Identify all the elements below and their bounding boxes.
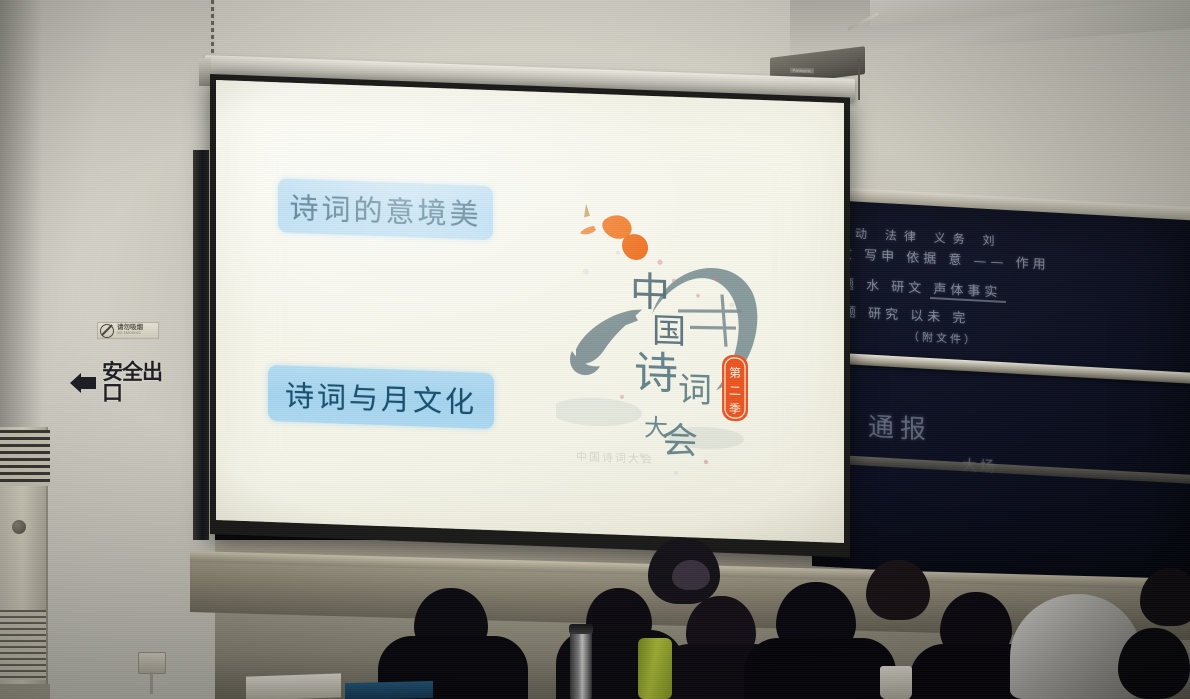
slide-bullet-2-label: 诗词与月文化	[285, 373, 477, 422]
logo-char-ci: 词	[678, 370, 712, 411]
logo-char-guo: 国	[652, 311, 686, 352]
student-head	[866, 560, 930, 620]
screen-brand-plate: Panasonic	[790, 68, 814, 74]
svg-text:第: 第	[729, 366, 741, 380]
emergency-exit-sign: 安全出口	[68, 366, 176, 400]
paper-sheet	[246, 673, 341, 699]
no-smoking-sign: 请勿吸烟 NO SMOKING	[97, 322, 159, 339]
chalk-headline: 通报	[868, 406, 932, 446]
notebook	[345, 681, 433, 699]
chinese-poetry-conference-logo: 中 国 诗 词 大 会 第	[556, 180, 776, 488]
slide-bullet-1-label: 诗词的意境美	[289, 185, 481, 234]
emergency-exit-label: 安全出口	[102, 362, 176, 404]
projector-screen: 诗词的意境美 诗词与月文化	[216, 80, 844, 543]
student-head	[1118, 628, 1190, 699]
slide-bullet-2: 诗词与月文化	[268, 365, 494, 429]
thermos-cap	[569, 624, 593, 634]
green-bottle	[638, 638, 672, 699]
thermos-bottle	[570, 628, 592, 699]
no-smoking-icon	[100, 324, 114, 338]
orange-ink-blob	[580, 203, 648, 260]
slide-bullet-1: 诗词的意境美	[278, 178, 493, 240]
red-seal-stamp: 第 二 季	[722, 355, 748, 422]
svg-text:二: 二	[729, 384, 741, 398]
svg-text:季: 季	[729, 402, 741, 416]
classroom-photo: 劳动 法律 义务 刘 明文 写申 依据 意 —— 作用 主题 水 研文 声体事实…	[0, 0, 1190, 699]
student-hair-highlight	[672, 560, 710, 590]
no-smoking-label: 请勿吸烟 NO SMOKING	[117, 325, 143, 335]
brush-stroke	[570, 307, 642, 377]
arrow-left-icon	[68, 371, 98, 395]
logo-char-zhong: 中	[630, 269, 670, 316]
blackboard-left-edge-behind-screen	[193, 150, 209, 540]
paper-cup	[880, 666, 912, 699]
logo-char-shi: 诗	[634, 347, 678, 400]
ac-top-vent	[0, 430, 50, 486]
student-torso	[744, 638, 896, 699]
hanging-chain	[211, 0, 214, 62]
hanging-cable	[858, 58, 860, 100]
